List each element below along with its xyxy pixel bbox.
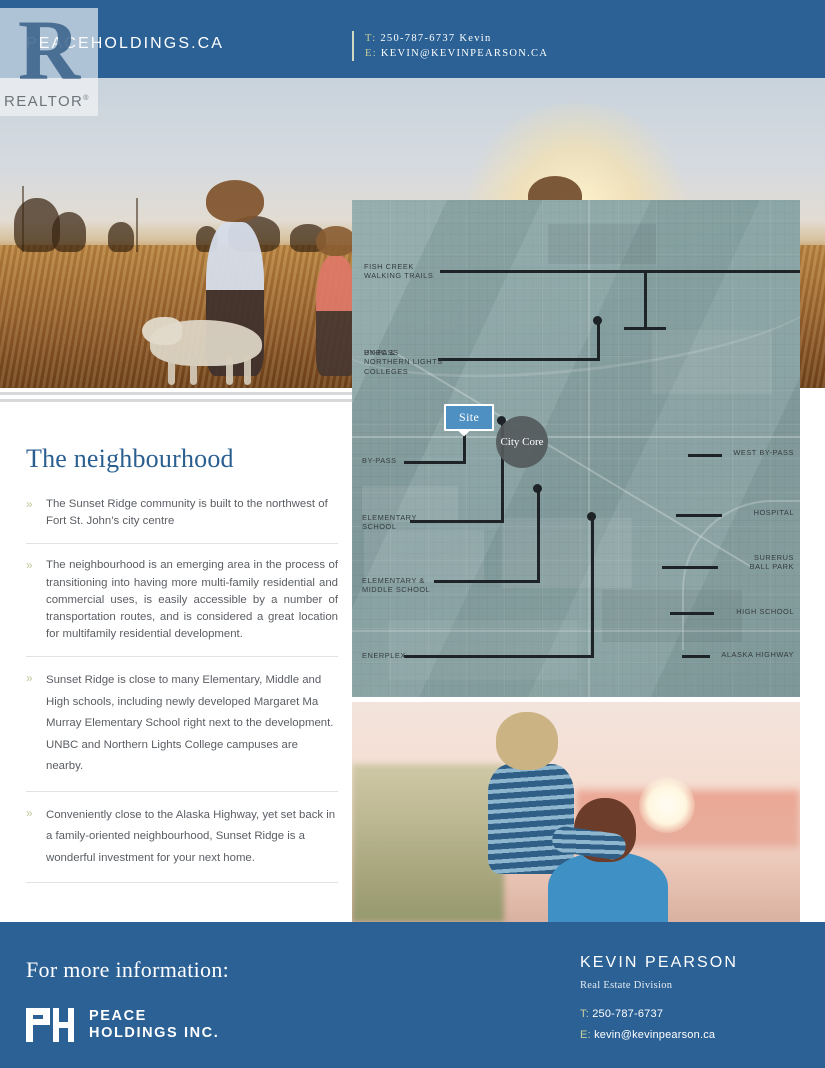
list-item: » The Sunset Ridge community is built to… (26, 492, 338, 544)
map-parcel (502, 518, 632, 588)
list-item: » The neighbourhood is an emerging area … (26, 544, 338, 657)
site-callout-label: Site (459, 410, 479, 424)
brochure-page: PEACEHOLDINGS.CA T: 250-787-6737 Kevin E… (0, 0, 825, 1068)
leader-line-fish-creek-drop (644, 270, 647, 330)
header-phone-label: T: (365, 33, 376, 44)
hero-person-head (206, 180, 264, 222)
hero-dog-leg (168, 355, 175, 385)
list-item: » Conveniently close to the Alaska Highw… (26, 792, 338, 884)
hero-pole (136, 198, 138, 252)
city-core-label: City Core (500, 436, 543, 449)
hero-tree (52, 212, 86, 252)
realtor-wordmark: REALTOR® (4, 93, 98, 110)
header-email-value[interactable]: KEVIN@KEVINPEARSON.CA (381, 48, 548, 59)
header-email-label: E: (365, 48, 377, 59)
hero-dog-leg (190, 355, 197, 385)
leader-line-enerplex (404, 655, 594, 658)
realtor-logo: R REALTOR® (0, 8, 98, 116)
leader-line-bypass (404, 461, 466, 464)
bullet-marker-icon: » (26, 805, 46, 870)
hero-dog-leg (226, 355, 233, 385)
page-header: PEACEHOLDINGS.CA T: 250-787-6737 Kevin E… (0, 0, 825, 78)
map-parcel (388, 620, 578, 680)
map-dot-enerplex (587, 512, 596, 521)
hero-person-head (316, 226, 356, 256)
bullet-marker-icon: » (26, 557, 46, 643)
leader-line-fish-creek (440, 270, 646, 273)
bullet-marker-icon: » (26, 670, 46, 778)
photo-father-and-child (352, 702, 800, 922)
photo2-child-body (488, 764, 574, 874)
neighbourhood-section: The neighbourhood » The Sunset Ridge com… (26, 444, 338, 883)
site-callout[interactable]: Site (444, 404, 494, 431)
photo2-child-head (496, 712, 558, 770)
footer-email-line: E: kevin@kevinpearson.ca (580, 1025, 738, 1046)
list-item: » Sunset Ridge is close to many Elementa… (26, 657, 338, 792)
header-email-line: E: KEVIN@KEVINPEARSON.CA (365, 46, 548, 61)
leader-line-fish-creek-right (646, 270, 800, 273)
registered-icon: ® (83, 95, 90, 102)
peace-holdings-wordmark: PEACE HOLDINGS INC. (89, 1008, 219, 1042)
map-label-alaska-highway: ALASKA HIGHWAY (630, 650, 794, 659)
divider-rule-bottom (0, 399, 352, 402)
map-parcel (364, 530, 484, 582)
footer-phone-line: T: 250-787-6737 (580, 1004, 738, 1025)
leader-line-enerplex-riser (591, 518, 594, 658)
map-label-ball-park: SURERUS BALL PARK (630, 553, 794, 572)
map-label-west-bypass: WEST BY-PASS (630, 448, 794, 457)
leader-line-fish-creek-cap (624, 327, 666, 330)
list-item-text: Conveniently close to the Alaska Highway… (46, 805, 338, 870)
map-label-enerplex: ENERPLEX (362, 651, 406, 660)
list-item-text: The Sunset Ridge community is built to t… (46, 496, 338, 530)
header-phone-line: T: 250-787-6737 Kevin (365, 31, 548, 46)
agent-contact-card: KEVIN PEARSON Real Estate Division T: 25… (580, 954, 738, 1046)
map-road (352, 436, 800, 438)
leader-line-middle-school (434, 580, 540, 583)
leader-line-unbc (438, 358, 600, 361)
realtor-word-text: REALTOR (4, 93, 83, 110)
footer-email-label: E: (580, 1029, 591, 1041)
footer-cta-text: For more information: (26, 957, 229, 983)
bullet-marker-icon: » (26, 496, 46, 530)
hero-person-girl (316, 226, 356, 376)
map-label-hospital: HOSPITAL (630, 508, 794, 517)
map-label-high-school: HIGH SCHOOL (630, 607, 794, 616)
peace-holdings-logo[interactable]: PEACE HOLDINGS INC. (24, 1006, 219, 1044)
company-name-line2: HOLDINGS INC. (89, 1025, 219, 1042)
section-divider (0, 388, 352, 410)
company-name-line1: PEACE (89, 1008, 219, 1025)
map-label-bypass: BY-PASS (362, 456, 397, 465)
map-label-middle-school: ELEMENTARY & MIDDLE SCHOOL (362, 576, 430, 595)
footer-phone-label: T: (580, 1008, 589, 1020)
agent-role: Real Estate Division (580, 980, 738, 991)
map-label-unbc-colleges: UNBC & NORTHERN LIGHTS COLLEGES (364, 348, 443, 376)
agent-name: KEVIN PEARSON (580, 954, 738, 972)
map-marker-city-core: City Core (496, 416, 548, 468)
footer-phone-value[interactable]: 250-787-6737 (592, 1008, 663, 1020)
ph-monogram-icon (24, 1006, 76, 1044)
leader-line-middle-school-riser (537, 490, 540, 583)
map-label-elementary-school: ELEMENTARY SCHOOL (362, 513, 417, 532)
photo2-grass (352, 764, 504, 922)
page-title: The neighbourhood (26, 444, 338, 474)
hero-tree (108, 222, 134, 252)
leader-line-unbc-riser (597, 322, 600, 361)
header-phone-value[interactable]: 250-787-6737 Kevin (380, 33, 491, 44)
hero-dog-leg (244, 355, 251, 385)
hero-dog-head (142, 317, 182, 345)
map-road (588, 200, 590, 697)
header-contact-block: T: 250-787-6737 Kevin E: KEVIN@KEVINPEAR… (352, 31, 548, 61)
hero-person-body (316, 256, 356, 376)
list-item-text: Sunset Ridge is close to many Elementary… (46, 670, 338, 778)
neighbourhood-bullet-list: » The Sunset Ridge community is built to… (26, 492, 338, 883)
map-dot-middle-school (533, 484, 542, 493)
leader-line-elementary (410, 520, 504, 523)
location-map[interactable]: FISH CREEK WALKING TRAILS BY-PASS UNBC &… (352, 200, 800, 697)
photo2-father-body (548, 852, 668, 922)
map-label-fish-creek: FISH CREEK WALKING TRAILS (364, 262, 433, 281)
footer-email-value[interactable]: kevin@kevinpearson.ca (594, 1029, 715, 1041)
map-dot-unbc (593, 316, 602, 325)
realtor-r-icon: R (18, 12, 80, 88)
list-item-text: The neighbourhood is an emerging area in… (46, 557, 338, 643)
page-footer: For more information: PEACE HOLDINGS INC… (0, 922, 825, 1068)
divider-rule-top (0, 392, 352, 395)
photo2-sun (639, 777, 695, 833)
